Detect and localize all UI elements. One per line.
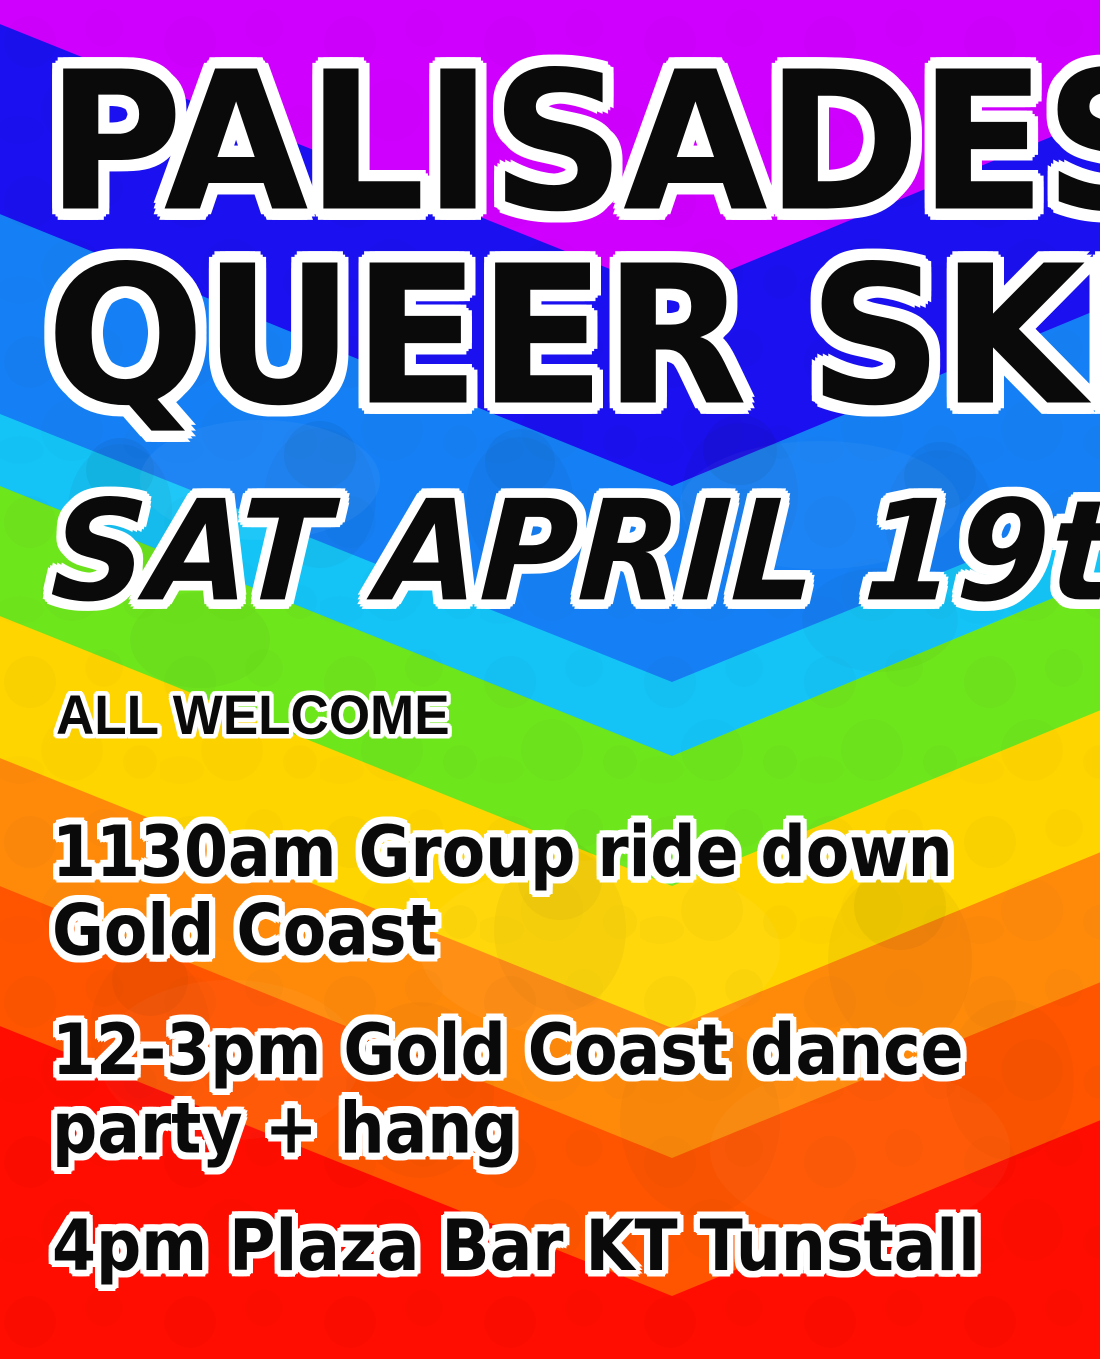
schedule-item-1: 1130am Group ride down Gold Coast <box>52 812 1092 970</box>
headline-line-2: QUEER SKI <box>46 241 1100 433</box>
event-date: SAT APRIL 19th <box>49 481 1100 620</box>
all-welcome-label: ALL WELCOME <box>56 683 1100 748</box>
headline-line-1: PALISADES <box>46 47 1100 239</box>
schedule-item-3: 4pm Plaza Bar KT Tunstall <box>52 1206 1092 1285</box>
poster-canvas: PALISADES QUEER SKI SAT APRIL 19th ALL W… <box>0 0 1100 1359</box>
poster-content: PALISADES QUEER SKI SAT APRIL 19th ALL W… <box>0 0 1100 1359</box>
schedule-item-2: 12-3pm Gold Coast dance party + hang <box>52 1010 1092 1168</box>
